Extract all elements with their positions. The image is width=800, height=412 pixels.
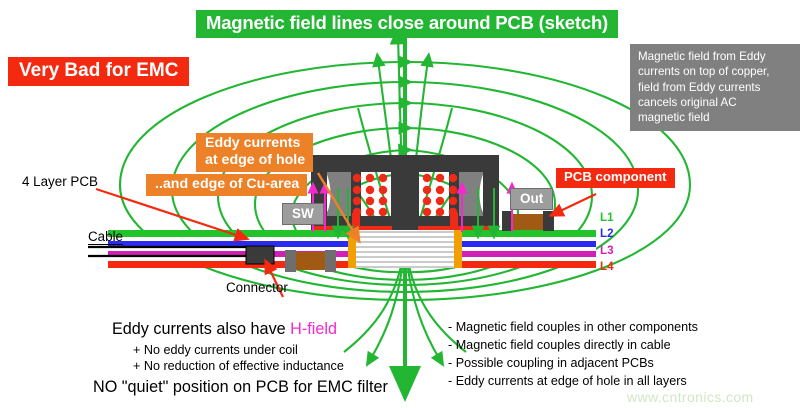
warning-banner: Very Bad for EMC bbox=[8, 57, 189, 86]
bottom-right-bullet-4: - Eddy currents at edge of hole in all l… bbox=[448, 374, 687, 388]
label-cable: Cable bbox=[88, 229, 123, 245]
layer-legend: L1 L2 L3 L4 bbox=[600, 210, 614, 276]
bottom-left-conclusion: NO "quiet" position on PCB for EMC filte… bbox=[93, 378, 388, 396]
callout-eddy-hole-line2: at edge of hole bbox=[205, 152, 305, 169]
note-box: Magnetic field from Eddy currents on top… bbox=[630, 44, 800, 131]
page-title: Magnetic field lines close around PCB (s… bbox=[196, 10, 618, 38]
connector-block bbox=[246, 246, 274, 264]
label-connector: Connector bbox=[226, 280, 288, 295]
watermark: www.cntronics.com bbox=[627, 390, 754, 406]
note-line-5: magnetic field bbox=[638, 110, 794, 125]
bottom-right-bullet-3: - Possible coupling in adjacent PCBs bbox=[448, 356, 654, 370]
pcb-layers-right bbox=[454, 230, 596, 268]
layer-label-l1: L1 bbox=[600, 210, 614, 226]
inductor-core bbox=[311, 155, 499, 234]
bottom-left-heading-highlight: H-field bbox=[290, 320, 337, 338]
sw-pad-label: SW bbox=[282, 203, 324, 225]
diagram-canvas: Magnetic field lines close around PCB (s… bbox=[0, 0, 800, 412]
note-line-2: currents on top of copper, bbox=[638, 64, 794, 79]
out-pad-label: Out bbox=[510, 188, 553, 210]
callout-eddy-hole: Eddy currents at edge of hole bbox=[196, 133, 313, 172]
note-line-3: field from Eddy currents bbox=[638, 80, 794, 95]
note-line-4: cancels original AC bbox=[638, 95, 794, 110]
out-component bbox=[502, 211, 554, 231]
layer-label-l4: L4 bbox=[600, 259, 614, 275]
bottom-left-heading: Eddy currents also have H-field bbox=[112, 320, 337, 338]
bottom-left-bullet-1: + No eddy currents under coil bbox=[133, 343, 298, 357]
bottom-left-bullet-2: + No reduction of effective inductance bbox=[133, 359, 344, 373]
callout-pcb-component: PCB component bbox=[556, 168, 675, 188]
layer-label-l3: L3 bbox=[600, 243, 614, 259]
note-line-1: Magnetic field from Eddy bbox=[638, 49, 794, 64]
bottom-component bbox=[285, 250, 336, 272]
bottom-left-heading-prefix: Eddy currents also have bbox=[112, 320, 290, 338]
bottom-right-bullet-1: - Magnetic field couples in other compon… bbox=[448, 320, 698, 334]
callout-eddy-hole-line1: Eddy currents bbox=[205, 135, 305, 152]
label-4-layer-pcb: 4 Layer PCB bbox=[22, 174, 98, 189]
layer-label-l2: L2 bbox=[600, 226, 614, 242]
pcb-hole-hatch bbox=[356, 230, 454, 268]
callout-eddy-cu-area: ..and edge of Cu-area bbox=[146, 174, 307, 196]
bottom-right-bullet-2: - Magnetic field couples directly in cab… bbox=[448, 338, 671, 352]
